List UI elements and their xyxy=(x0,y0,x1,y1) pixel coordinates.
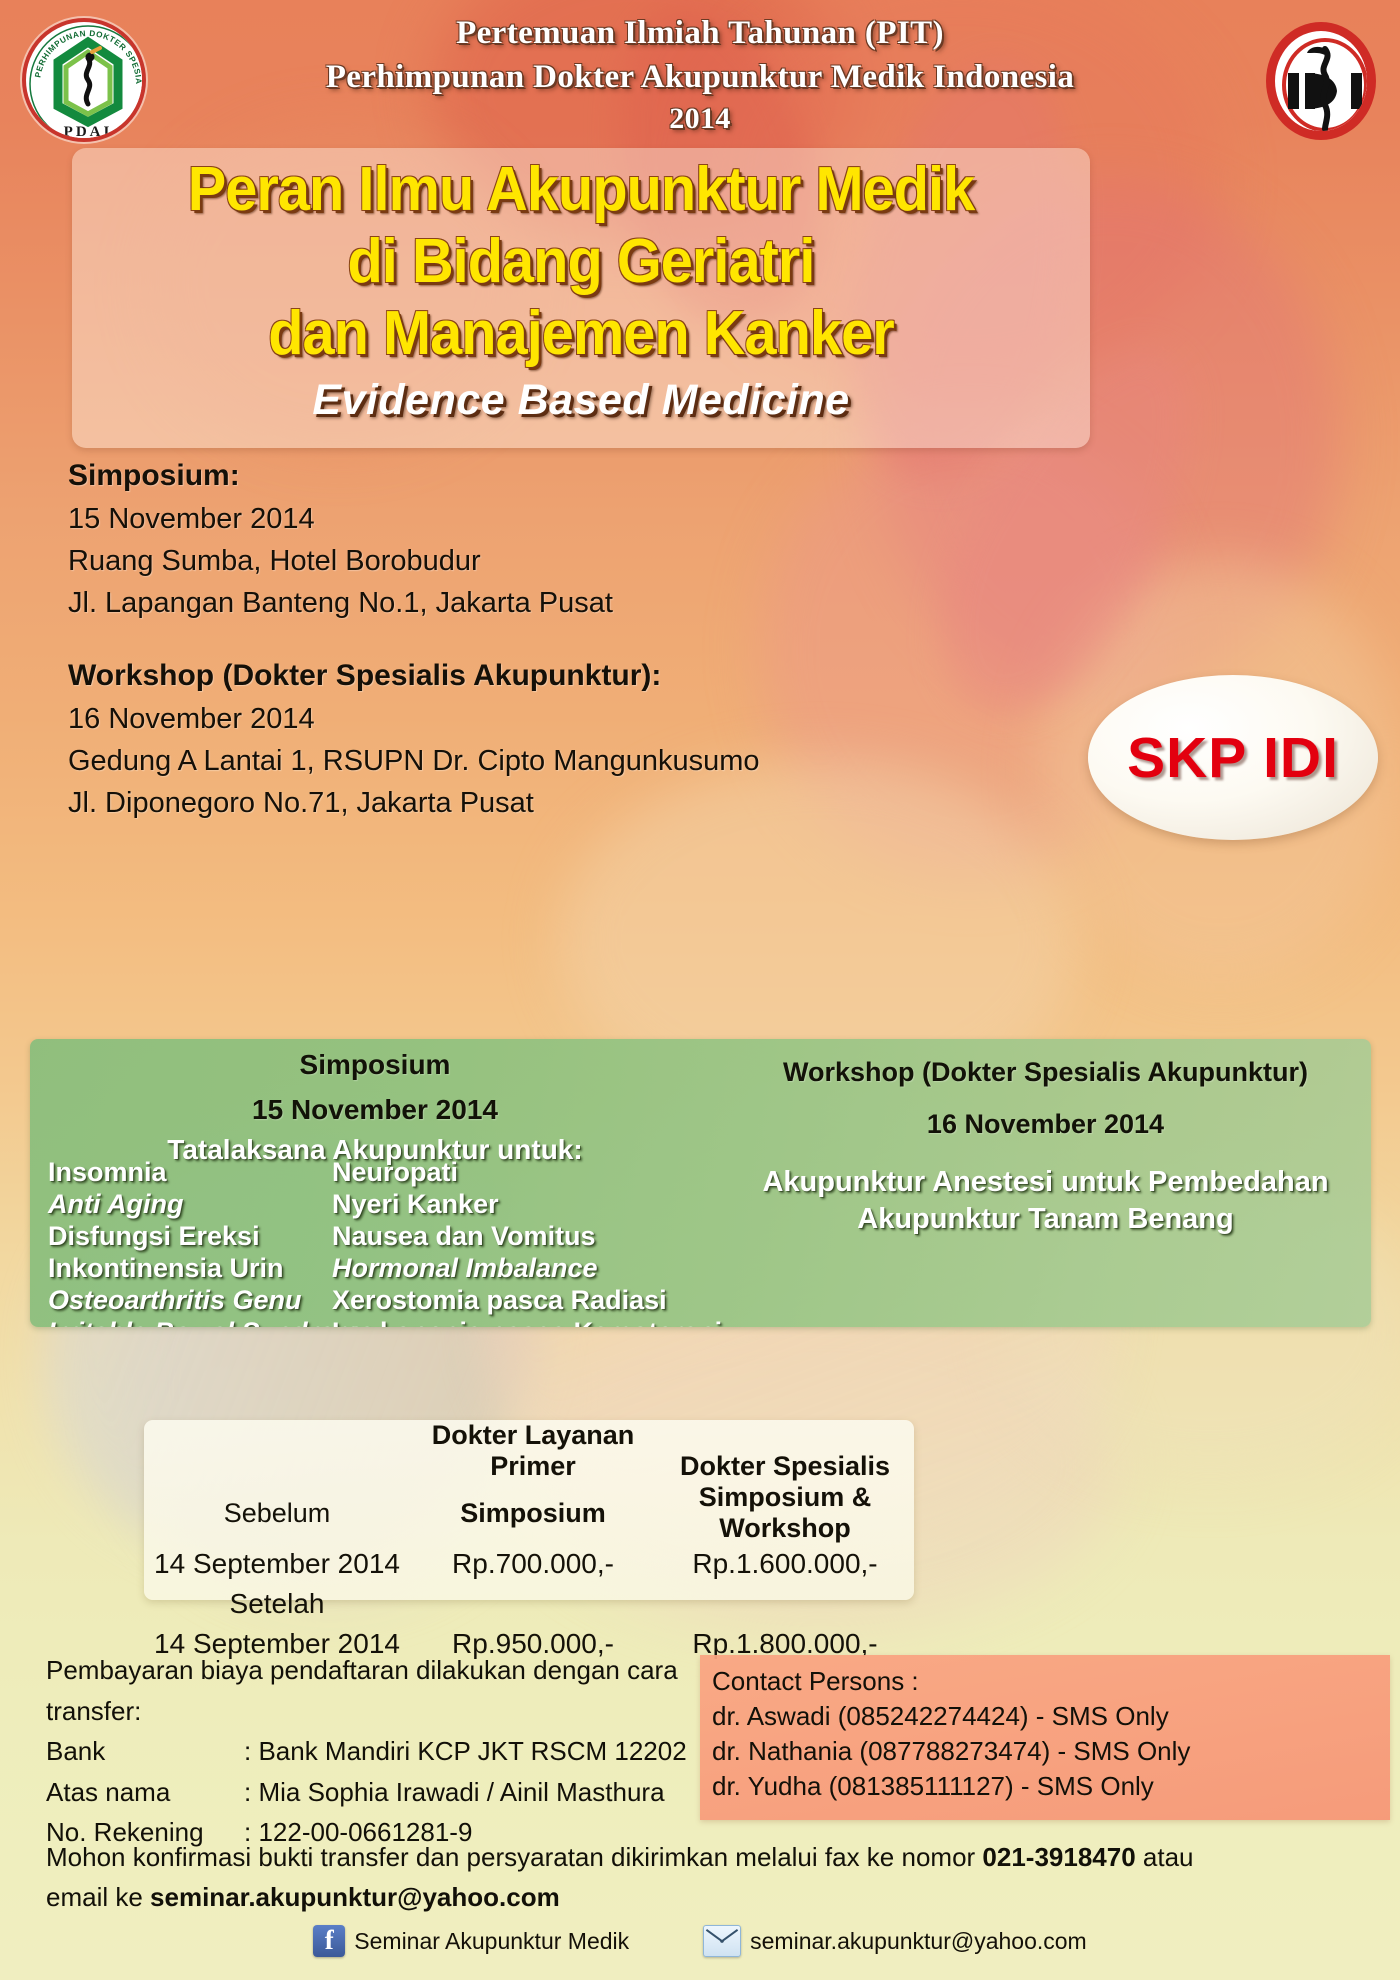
topic-item: Irritable Bowel Syndrome xyxy=(48,1317,348,1327)
simposium-heading: Simposium: xyxy=(68,455,613,498)
header-year: 2014 xyxy=(160,99,1240,139)
pricing-row-1-when-2: 14 September 2014 xyxy=(144,1544,410,1584)
note-text-2: atau xyxy=(1136,1842,1194,1872)
note-text-3: email ke xyxy=(46,1882,150,1912)
skp-idi-badge: SKP IDI xyxy=(1088,675,1378,840)
pricing-row: 14 September 2014 Rp.700.000,- Rp.1.600.… xyxy=(144,1544,914,1584)
pricing-row-2-when-1: Setelah xyxy=(144,1584,410,1624)
contact-persons-title: Contact Persons : xyxy=(712,1664,1390,1699)
program-topics-column-right: Neuropati Nyeri Kanker Nausea dan Vomitu… xyxy=(332,1157,712,1327)
title-subtitle: Evidence Based Medicine xyxy=(72,376,1090,425)
payment-name-label: Atas nama xyxy=(46,1772,244,1813)
topic-item: Neuropati xyxy=(332,1157,712,1189)
schedule-workshop: Workshop (Dokter Spesialis Akupunktur): … xyxy=(68,655,760,825)
facebook-icon[interactable]: f xyxy=(313,1925,345,1957)
topic-item: Nausea dan Vomitus xyxy=(332,1221,712,1253)
program-topics-column-left: Insomnia Anti Aging Disfungsi Ereksi Ink… xyxy=(48,1157,348,1327)
program-workshop-title: Workshop (Dokter Spesialis Akupunktur) xyxy=(720,1039,1371,1091)
title-panel: Peran Ilmu Akupunktur Medik di Bidang Ge… xyxy=(72,148,1090,448)
contact-person: dr. Aswadi (085242274424) - SMS Only xyxy=(712,1699,1390,1734)
program-workshop-items: Akupunktur Anestesi untuk Pembedahan Aku… xyxy=(720,1164,1371,1238)
header-line-2: Perhimpunan Dokter Akupunktur Medik Indo… xyxy=(160,56,1240,100)
contact-person: dr. Nathania (087788273474) - SMS Only xyxy=(712,1734,1390,1769)
pricing-spacer-a xyxy=(410,1584,656,1624)
pricing-header-row-2: Sebelum Simposium Simposium & Workshop xyxy=(144,1482,914,1544)
pricing-col-when-header xyxy=(144,1420,410,1482)
pricing-col-primer-header-2: Simposium xyxy=(410,1482,656,1544)
pricing-header-row-1: Dokter Layanan Primer Dokter Spesialis xyxy=(144,1420,914,1482)
simposium-venue: Ruang Sumba, Hotel Borobudur xyxy=(68,540,613,582)
workshop-date: 16 November 2014 xyxy=(68,698,760,740)
pricing-spacer-b xyxy=(656,1584,914,1624)
payment-row: Atas nama : Mia Sophia Irawadi / Ainil M… xyxy=(46,1772,726,1813)
email-label: seminar.akupunktur@yahoo.com xyxy=(750,1928,1087,1955)
program-simposium: Simposium 15 November 2014 Tatalaksana A… xyxy=(30,1039,720,1166)
pricing-row-1-spesialis: Rp.1.600.000,- xyxy=(656,1544,914,1584)
topic-item: Xerostomia pasca Radiasi xyxy=(332,1285,712,1317)
contact-persons-box: Contact Persons : dr. Aswadi (0852422744… xyxy=(700,1655,1390,1820)
confirmation-note-line-2: email ke seminar.akupunktur@yahoo.com xyxy=(46,1878,1366,1918)
topic-item: Insomnia xyxy=(48,1157,348,1189)
confirmation-note-line-1: Mohon konfirmasi bukti transfer dan pers… xyxy=(46,1838,1366,1878)
envelope-icon[interactable] xyxy=(703,1925,741,1957)
payment-name-value: : Mia Sophia Irawadi / Ainil Masthura xyxy=(244,1772,726,1813)
email-address: seminar.akupunktur@yahoo.com xyxy=(150,1882,560,1912)
workshop-item: Akupunktur Tanam Benang xyxy=(720,1201,1371,1238)
header-title-block: Pertemuan Ilmiah Tahunan (PIT) Perhimpun… xyxy=(160,12,1240,139)
workshop-item: Akupunktur Anestesi untuk Pembedahan xyxy=(720,1164,1371,1201)
payment-info: Pembayaran biaya pendaftaran dilakukan d… xyxy=(46,1650,726,1853)
poster-canvas: PDAI PERHIMPUNAN DOKTER SPESIALIS AKUPUN… xyxy=(0,0,1400,1980)
title-lines: Peran Ilmu Akupunktur Medik di Bidang Ge… xyxy=(72,154,1090,425)
topic-item: Nyeri Kanker xyxy=(332,1189,712,1221)
workshop-venue: Gedung A Lantai 1, RSUPN Dr. Cipto Mangu… xyxy=(68,740,760,782)
pricing-row-1-when-1: Sebelum xyxy=(144,1482,410,1544)
topic-item: Anti Aging xyxy=(48,1189,348,1221)
idi-logo xyxy=(1266,22,1376,140)
skp-idi-label: SKP IDI xyxy=(1127,725,1339,791)
simposium-address: Jl. Lapangan Banteng No.1, Jakarta Pusat xyxy=(68,582,613,624)
payment-intro: Pembayaran biaya pendaftaran dilakukan d… xyxy=(46,1650,726,1731)
social-bar: f Seminar Akupunktur Medik seminar.akupu… xyxy=(0,1925,1400,1957)
payment-row: Bank : Bank Mandiri KCP JKT RSCM 12202 xyxy=(46,1731,726,1772)
topic-item: Hormonal Imbalance xyxy=(332,1253,712,1285)
confirmation-note: Mohon konfirmasi bukti transfer dan pers… xyxy=(46,1838,1366,1917)
payment-bank-value: : Bank Mandiri KCP JKT RSCM 12202 xyxy=(244,1731,726,1772)
schedule-simposium: Simposium: 15 November 2014 Ruang Sumba,… xyxy=(68,455,613,625)
svg-text:PDAI: PDAI xyxy=(64,124,113,140)
title-line-3: dan Manajemen Kanker xyxy=(108,298,1055,370)
pricing-row-1-primer: Rp.700.000,- xyxy=(410,1544,656,1584)
workshop-heading: Workshop (Dokter Spesialis Akupunktur): xyxy=(68,655,760,698)
topic-item: Leukopenia pasca Kemoterapi xyxy=(332,1317,712,1327)
pricing-col-spesialis-header-1: Dokter Spesialis xyxy=(656,1420,914,1482)
topic-item: Disfungsi Ereksi xyxy=(48,1221,348,1253)
pricing-col-primer-header-1: Dokter Layanan Primer xyxy=(410,1420,656,1482)
program-simposium-date: 15 November 2014 xyxy=(30,1084,720,1129)
program-workshop-date: 16 November 2014 xyxy=(720,1091,1371,1143)
payment-bank-label: Bank xyxy=(46,1731,244,1772)
note-text-1: Mohon konfirmasi bukti transfer dan pers… xyxy=(46,1842,982,1872)
facebook-link[interactable]: f Seminar Akupunktur Medik xyxy=(313,1925,629,1957)
title-line-1: Peran Ilmu Akupunktur Medik xyxy=(108,154,1055,226)
header-line-1: Pertemuan Ilmiah Tahunan (PIT) xyxy=(160,12,1240,56)
topic-item: Inkontinensia Urin xyxy=(48,1253,348,1285)
facebook-label: Seminar Akupunktur Medik xyxy=(354,1928,629,1955)
pricing-row: Setelah xyxy=(144,1584,914,1624)
contact-person: dr. Yudha (081385111127) - SMS Only xyxy=(712,1769,1390,1804)
simposium-date: 15 November 2014 xyxy=(68,498,613,540)
program-simposium-title: Simposium xyxy=(30,1039,720,1084)
pricing-col-spesialis-header-2: Simposium & Workshop xyxy=(656,1482,914,1544)
fax-number: 021-3918470 xyxy=(982,1842,1135,1872)
pdai-logo: PDAI PERHIMPUNAN DOKTER SPESIALIS AKUPUN… xyxy=(22,18,146,142)
title-line-2: di Bidang Geriatri xyxy=(108,226,1055,298)
program-panel: Simposium 15 November 2014 Tatalaksana A… xyxy=(30,1039,1371,1327)
poster-header: PDAI PERHIMPUNAN DOKTER SPESIALIS AKUPUN… xyxy=(0,0,1400,140)
program-workshop: Workshop (Dokter Spesialis Akupunktur) 1… xyxy=(720,1039,1371,1238)
topic-item: Osteoarthritis Genu xyxy=(48,1285,348,1317)
workshop-address: Jl. Diponegoro No.71, Jakarta Pusat xyxy=(68,782,760,824)
email-link[interactable]: seminar.akupunktur@yahoo.com xyxy=(703,1925,1087,1957)
pricing-table: Dokter Layanan Primer Dokter Spesialis S… xyxy=(144,1420,914,1600)
